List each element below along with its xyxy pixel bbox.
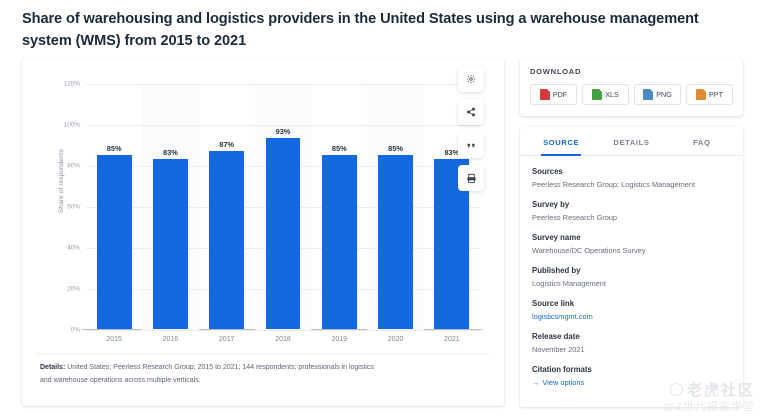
xls-file-icon	[592, 89, 602, 100]
y-axis-tick-label: 100%	[64, 122, 80, 129]
chart-plot-area: Share of respondents 0%20%40%60%80%100%1…	[22, 58, 504, 353]
download-card: DOWNLOAD PDFXLSPNGPPT	[520, 58, 743, 116]
arrow-right-icon: →	[532, 378, 539, 387]
download-button-label: PPT	[709, 90, 723, 99]
png-file-icon	[643, 89, 653, 100]
source-item-value: Peerless Research Group	[532, 212, 731, 223]
download-button-label: PDF	[553, 90, 567, 99]
x-axis-tick-label: 2019	[311, 336, 367, 343]
source-item-key: Sources	[532, 166, 731, 177]
page-title: Share of warehousing and logistics provi…	[22, 8, 722, 52]
bar[interactable]	[322, 155, 357, 329]
grid-line	[86, 84, 480, 85]
quote-icon	[466, 140, 477, 151]
source-item-key: Survey name	[532, 232, 731, 243]
print-icon	[466, 173, 477, 184]
source-item: Survey nameWarehouse/DC Operations Surve…	[532, 232, 731, 256]
download-button-label: XLS	[605, 90, 619, 99]
citation-formats: Citation formats→View options	[532, 364, 731, 388]
source-item-key: Published by	[532, 265, 731, 276]
y-axis-tick-label: 40%	[67, 245, 80, 252]
statista-chart-page: Share of warehousing and logistics provi…	[0, 0, 765, 420]
details-label: Details:	[40, 364, 65, 371]
bar[interactable]	[153, 159, 188, 329]
bar-value-label: 85%	[311, 144, 367, 153]
x-axis-tick-label: 2018	[255, 336, 311, 343]
source-link[interactable]: logisticsmgmt.com	[532, 311, 731, 322]
grid-line	[86, 330, 480, 331]
details-text: United States; Peerless Research Group; …	[40, 364, 374, 384]
print-button[interactable]	[458, 165, 484, 191]
source-item: Source linklogisticsmgmt.com	[532, 298, 731, 322]
download-button-label: PNG	[656, 90, 672, 99]
grid-line	[86, 125, 480, 126]
download-xls-button[interactable]: XLS	[582, 84, 629, 105]
bar-value-label: 83%	[142, 148, 198, 157]
y-axis-tick-label: 80%	[67, 163, 80, 170]
x-axis-tick-label: 2020	[367, 336, 423, 343]
source-item-value: November 2021	[532, 344, 731, 355]
y-axis-tick-label: 60%	[67, 204, 80, 211]
download-button-row: PDFXLSPNGPPT	[530, 84, 733, 105]
side-panel: DOWNLOAD PDFXLSPNGPPT SOURCEDETAILSFAQ S…	[520, 58, 743, 407]
share-icon	[466, 107, 476, 117]
bar[interactable]	[97, 155, 132, 329]
bar-chart: 0%20%40%60%80%100%120%85%201583%201687%2…	[86, 84, 480, 330]
source-item: Survey byPeerless Research Group	[532, 199, 731, 223]
source-item: Release dateNovember 2021	[532, 331, 731, 355]
source-item-key: Release date	[532, 331, 731, 342]
citation-formats-label: Citation formats	[532, 364, 731, 375]
settings-button[interactable]	[458, 66, 484, 92]
tab-source[interactable]: SOURCE	[526, 127, 596, 155]
view-options-label: View options	[542, 378, 584, 387]
ppt-file-icon	[696, 89, 706, 100]
info-card: SOURCEDETAILSFAQ SourcesPeerless Researc…	[520, 127, 743, 407]
x-axis-tick-label: 2015	[86, 336, 142, 343]
bar-value-label: 87%	[199, 140, 255, 149]
y-axis-tick-label: 120%	[64, 81, 80, 88]
bar[interactable]	[378, 155, 413, 329]
source-item: SourcesPeerless Research Group; Logistic…	[532, 166, 731, 190]
y-axis-tick-label: 20%	[67, 286, 80, 293]
download-png-button[interactable]: PNG	[634, 84, 681, 105]
source-item-value: Logistics Management	[532, 278, 731, 289]
x-axis-tick-label: 2021	[424, 336, 480, 343]
chart-toolbar	[458, 66, 488, 198]
gear-icon	[466, 74, 476, 84]
download-heading: DOWNLOAD	[530, 67, 733, 76]
chart-details: Details: United States; Peerless Researc…	[40, 362, 380, 387]
content-area: Share of respondents 0%20%40%60%80%100%1…	[0, 58, 765, 420]
x-axis-tick-label: 2017	[199, 336, 255, 343]
download-pdf-button[interactable]: PDF	[530, 84, 577, 105]
download-ppt-button[interactable]: PPT	[686, 84, 733, 105]
card-divider	[36, 353, 490, 354]
bar-value-label: 93%	[255, 127, 311, 136]
cite-button[interactable]	[458, 132, 484, 158]
y-axis-tick-label: 0%	[71, 327, 80, 334]
info-tabs: SOURCEDETAILSFAQ	[520, 127, 743, 156]
bar-value-label: 85%	[367, 144, 423, 153]
source-item-key: Survey by	[532, 199, 731, 210]
bar[interactable]	[266, 138, 301, 329]
tab-details[interactable]: DETAILS	[596, 127, 666, 155]
source-item: Published byLogistics Management	[532, 265, 731, 289]
bar-value-label: 85%	[86, 144, 142, 153]
y-axis-title: Share of respondents	[58, 149, 65, 213]
share-button[interactable]	[458, 99, 484, 125]
view-options-link[interactable]: →View options	[532, 377, 731, 388]
source-item-value: Warehouse/DC Operations Survey	[532, 245, 731, 256]
source-item-key: Source link	[532, 298, 731, 309]
tab-faq[interactable]: FAQ	[667, 127, 737, 155]
chart-card: Share of respondents 0%20%40%60%80%100%1…	[22, 58, 504, 406]
bar[interactable]	[209, 151, 244, 329]
x-axis-tick-label: 2016	[142, 336, 198, 343]
source-item-value: Peerless Research Group; Logistics Manag…	[532, 179, 731, 190]
source-list: SourcesPeerless Research Group; Logistic…	[520, 156, 743, 388]
pdf-file-icon	[540, 89, 550, 100]
